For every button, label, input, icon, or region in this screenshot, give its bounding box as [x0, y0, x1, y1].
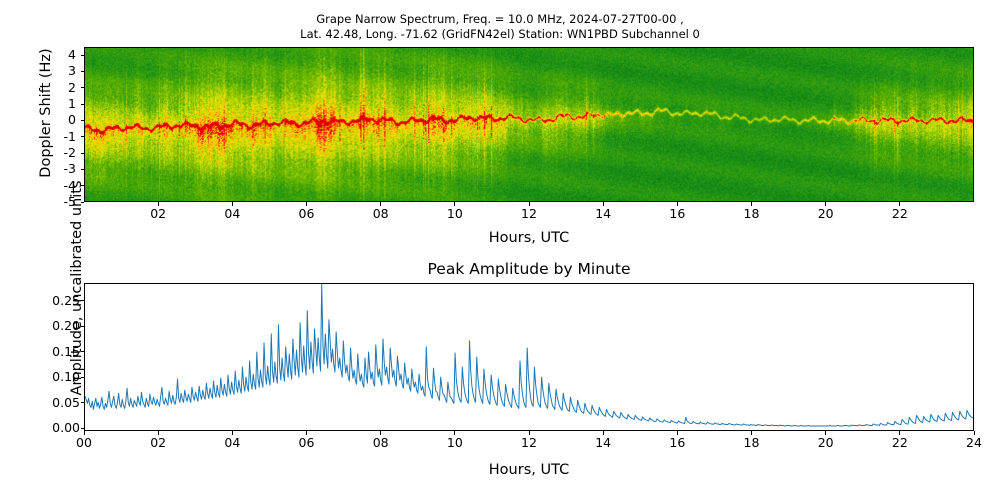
- axis-tick: [81, 326, 85, 327]
- axis-tick: [899, 202, 900, 206]
- amplitude-x-tick-label: 12: [509, 435, 549, 450]
- spectrogram-y-tick-label: 1: [42, 96, 76, 111]
- spectrogram-y-tick-label: 4: [42, 47, 76, 62]
- axis-tick: [158, 431, 159, 435]
- amplitude-x-tick-label: 00: [64, 435, 104, 450]
- amplitude-y-tick-label: 0.05: [36, 395, 80, 410]
- amplitude-x-tick-label: 16: [657, 435, 697, 450]
- amplitude-x-tick-label: 10: [435, 435, 475, 450]
- amplitude-y-axis-label: Amplitude, uncalibrated units: [69, 143, 85, 433]
- axis-tick: [751, 431, 752, 435]
- axis-tick: [81, 55, 85, 56]
- axis-tick: [81, 120, 85, 121]
- axis-tick: [529, 202, 530, 206]
- spectrogram-x-tick-label: 10: [435, 206, 475, 221]
- spectrogram-x-tick-label: 04: [212, 206, 252, 221]
- amplitude-y-tick-label: 0.00: [36, 420, 80, 435]
- amplitude-y-tick-label: 0.10: [36, 369, 80, 384]
- axis-tick: [81, 428, 85, 429]
- spectrogram-x-tick-label: 06: [287, 206, 327, 221]
- axis-tick: [677, 202, 678, 206]
- spectrogram-x-tick-label: 12: [509, 206, 549, 221]
- axis-tick: [454, 431, 455, 435]
- axis-tick: [677, 431, 678, 435]
- spectrogram-x-tick-label: 20: [806, 206, 846, 221]
- amplitude-x-tick-label: 20: [806, 435, 846, 450]
- amplitude-x-tick-label: 14: [583, 435, 623, 450]
- axis-tick: [380, 202, 381, 206]
- axis-tick: [306, 431, 307, 435]
- amplitude-plot-title: Peak Amplitude by Minute: [84, 260, 974, 278]
- amplitude-x-tick-label: 04: [212, 435, 252, 450]
- axis-tick: [81, 402, 85, 403]
- axis-tick: [974, 431, 975, 435]
- figure-canvas: Grape Narrow Spectrum, Freq. = 10.0 MHz,…: [0, 0, 1000, 500]
- spectrogram-x-tick-label: 08: [361, 206, 401, 221]
- axis-tick: [380, 431, 381, 435]
- amplitude-x-tick-label: 08: [361, 435, 401, 450]
- figure-title-line-2: Lat. 42.48, Long. -71.62 (GridFN42el) St…: [0, 27, 1000, 41]
- spectrogram-x-tick-label: 18: [732, 206, 772, 221]
- axis-tick: [825, 202, 826, 206]
- axis-tick: [529, 431, 530, 435]
- axis-tick: [158, 202, 159, 206]
- axis-tick: [603, 202, 604, 206]
- amplitude-x-axis-label: Hours, UTC: [84, 462, 974, 478]
- spectrogram-image: [85, 48, 973, 201]
- spectrogram-x-tick-label: 16: [657, 206, 697, 221]
- amplitude-polyline: [85, 284, 973, 426]
- axis-tick: [751, 202, 752, 206]
- axis-tick: [232, 202, 233, 206]
- amplitude-y-tick-label: 0.25: [36, 293, 80, 308]
- axis-tick: [81, 351, 85, 352]
- amplitude-y-tick-label: 0.15: [36, 344, 80, 359]
- amplitude-line-series: [85, 284, 973, 430]
- spectrogram-x-axis-label: Hours, UTC: [84, 230, 974, 246]
- axis-tick: [81, 377, 85, 378]
- amplitude-x-tick-label: 18: [732, 435, 772, 450]
- axis-tick: [232, 431, 233, 435]
- figure-title-line-1: Grape Narrow Spectrum, Freq. = 10.0 MHz,…: [0, 12, 1000, 26]
- amplitude-x-tick-label: 06: [287, 435, 327, 450]
- amplitude-y-tick-label: 0.20: [36, 318, 80, 333]
- spectrogram-x-tick-label: 22: [880, 206, 920, 221]
- axis-tick: [81, 136, 85, 137]
- axis-tick: [81, 71, 85, 72]
- axis-tick: [81, 104, 85, 105]
- spectrogram-x-tick-label: 02: [138, 206, 178, 221]
- spectrogram-y-tick-label: 2: [42, 80, 76, 95]
- axis-tick: [603, 431, 604, 435]
- amplitude-x-tick-label: 22: [880, 435, 920, 450]
- spectrogram-y-tick-label: 0: [42, 112, 76, 127]
- axis-tick: [454, 202, 455, 206]
- spectrogram-y-tick-label: -1: [42, 129, 76, 144]
- axis-tick: [825, 431, 826, 435]
- axis-tick: [81, 87, 85, 88]
- axis-tick: [84, 431, 85, 435]
- spectrogram-y-tick-label: 3: [42, 63, 76, 78]
- amplitude-plot-area: [84, 283, 974, 431]
- amplitude-x-tick-label: 24: [954, 435, 994, 450]
- spectrogram-plot-area: [84, 47, 974, 202]
- amplitude-x-tick-label: 02: [138, 435, 178, 450]
- axis-tick: [81, 300, 85, 301]
- spectrogram-x-tick-label: 14: [583, 206, 623, 221]
- axis-tick: [899, 431, 900, 435]
- axis-tick: [306, 202, 307, 206]
